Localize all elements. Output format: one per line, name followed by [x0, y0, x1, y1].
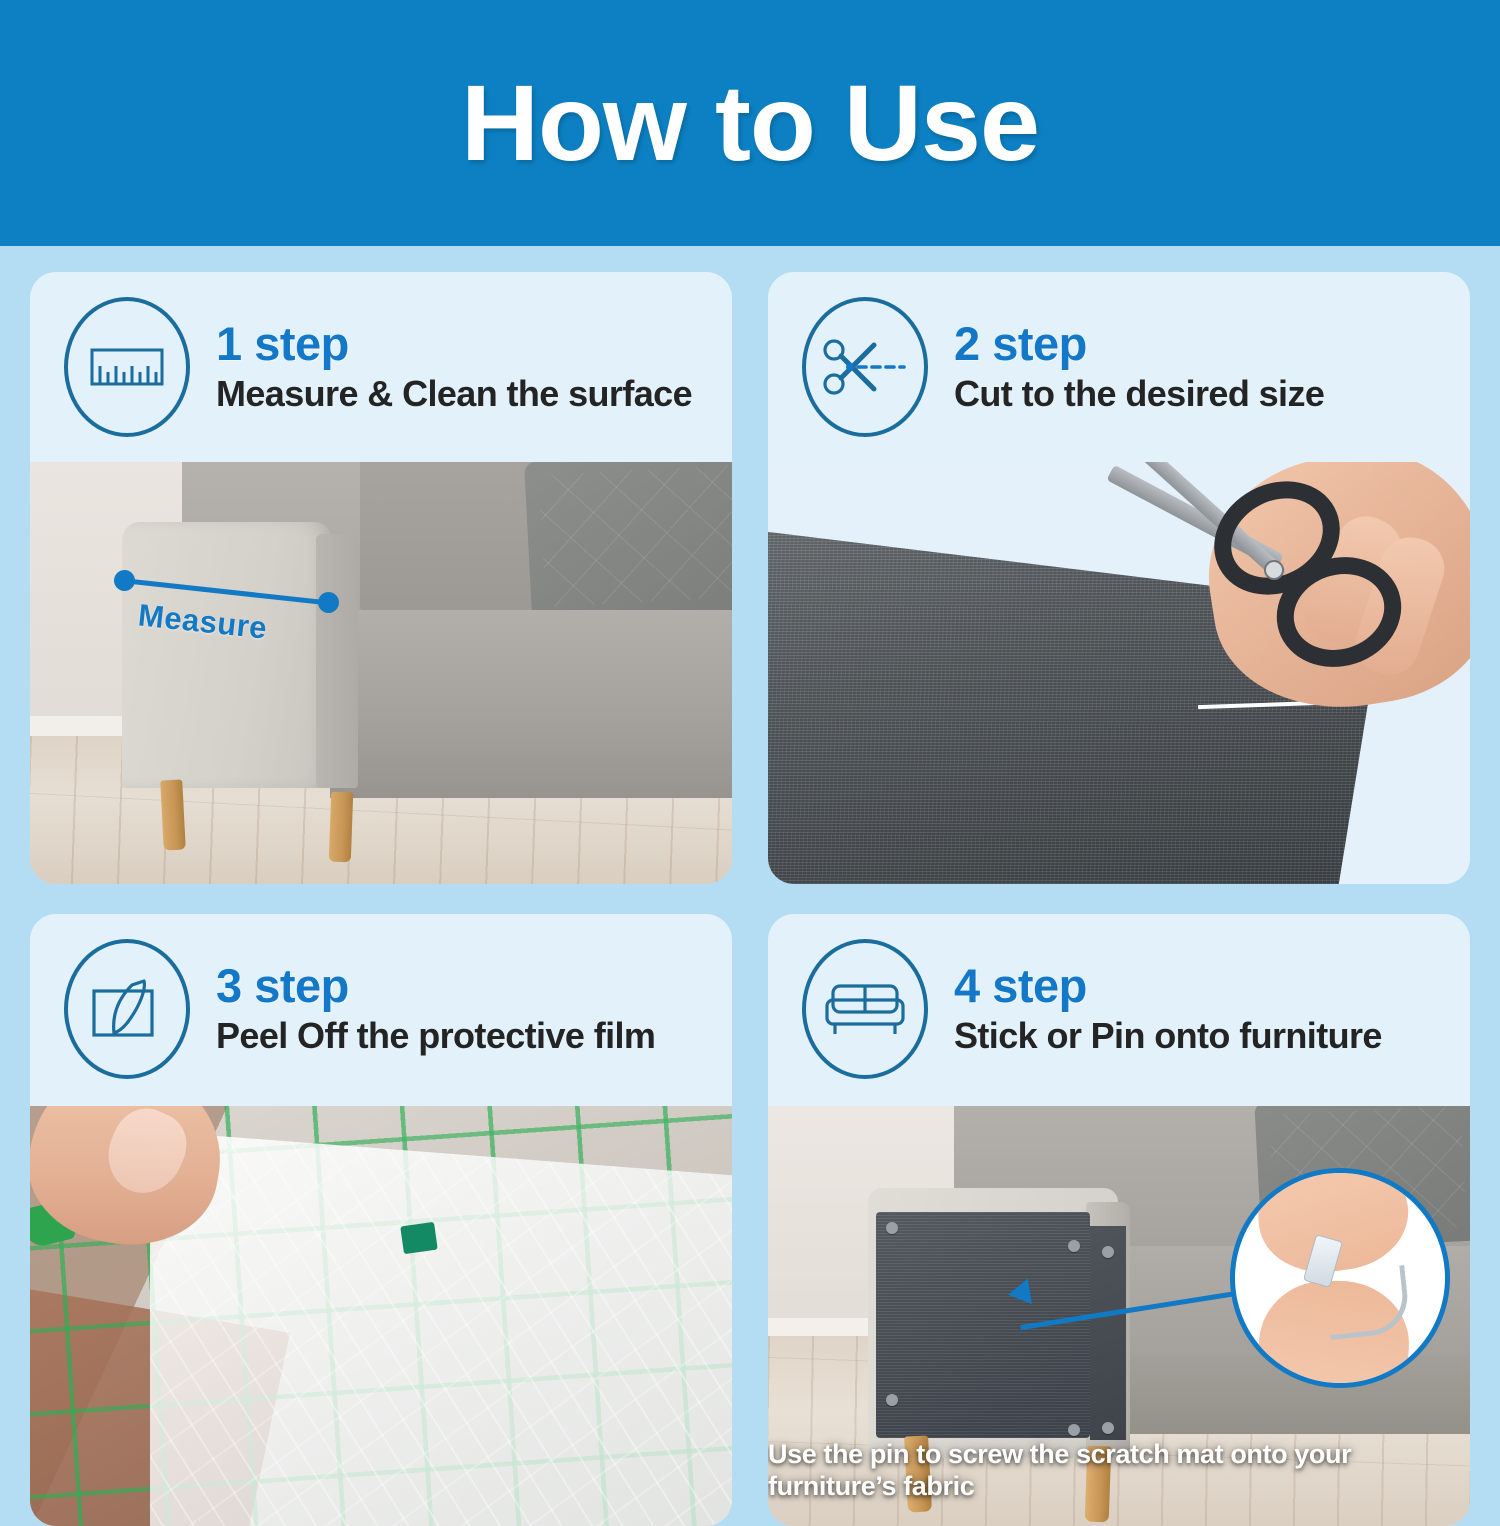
step-4-description: Stick or Pin onto furniture [954, 1016, 1382, 1056]
pin-head [1068, 1240, 1080, 1252]
pin-head [1102, 1246, 1114, 1258]
step-3-photo [30, 1106, 732, 1526]
step-card-2: 2 step Cut to the desired size [768, 272, 1470, 884]
step-card-3: 3 step Peel Off the protective film [30, 914, 732, 1526]
step-1-photo: Measure [30, 462, 732, 884]
step-2-number: 2 step [954, 320, 1324, 368]
steps-grid: 1 step Measure & Clean the surface Measu… [0, 246, 1500, 1500]
sofa-arm-side [316, 534, 358, 788]
page-title: How to Use [461, 69, 1039, 177]
scissors-icon [802, 297, 928, 437]
pin-head [886, 1222, 898, 1234]
peel-film-icon [64, 939, 190, 1079]
step-2-text: 2 step Cut to the desired size [954, 320, 1324, 414]
step-card-1: 1 step Measure & Clean the surface Measu… [30, 272, 732, 884]
sofa-icon [802, 939, 928, 1079]
protective-film [150, 1116, 732, 1526]
step-1-number: 1 step [216, 320, 692, 368]
pin-closeup-inset [1230, 1168, 1450, 1388]
step-2-description: Cut to the desired size [954, 374, 1324, 414]
step-2-photo [768, 462, 1470, 884]
pin-head [886, 1394, 898, 1406]
step-4-caption: Use the pin to screw the scratch mat ont… [768, 1439, 1450, 1502]
step-1-header: 1 step Measure & Clean the surface [30, 272, 732, 462]
page-header: How to Use [0, 0, 1500, 246]
scratch-mat-applied [876, 1212, 1090, 1438]
ruler-icon [64, 297, 190, 437]
pin-head [1068, 1424, 1080, 1436]
step-3-description: Peel Off the protective film [216, 1016, 655, 1056]
step-4-number: 4 step [954, 962, 1382, 1010]
pin-head [1102, 1422, 1114, 1434]
scissor-pivot [1264, 560, 1284, 580]
sofa-base [330, 714, 732, 798]
fingernail [96, 1106, 198, 1205]
step-1-description: Measure & Clean the surface [216, 374, 692, 414]
sofa-leg [160, 779, 186, 850]
step-4-photo: Use the pin to screw the scratch mat ont… [768, 1106, 1470, 1526]
throw-pillow [524, 462, 732, 622]
sofa-armrest [122, 522, 332, 788]
step-1-text: 1 step Measure & Clean the surface [216, 320, 692, 414]
step-3-header: 3 step Peel Off the protective film [30, 914, 732, 1104]
scratch-mat-side [1090, 1226, 1126, 1440]
measure-endpoint-dot [114, 570, 135, 591]
step-3-number: 3 step [216, 962, 655, 1010]
step-4-text: 4 step Stick or Pin onto furniture [954, 962, 1382, 1056]
step-card-4: 4 step Stick or Pin onto furniture [768, 914, 1470, 1526]
measure-endpoint-dot [318, 592, 339, 613]
step-3-text: 3 step Peel Off the protective film [216, 962, 655, 1056]
step-4-header: 4 step Stick or Pin onto furniture [768, 914, 1470, 1104]
green-chip [400, 1222, 438, 1254]
sofa-leg [329, 792, 353, 863]
callout-arrow-head [1006, 1278, 1032, 1307]
step-2-header: 2 step Cut to the desired size [768, 272, 1470, 462]
